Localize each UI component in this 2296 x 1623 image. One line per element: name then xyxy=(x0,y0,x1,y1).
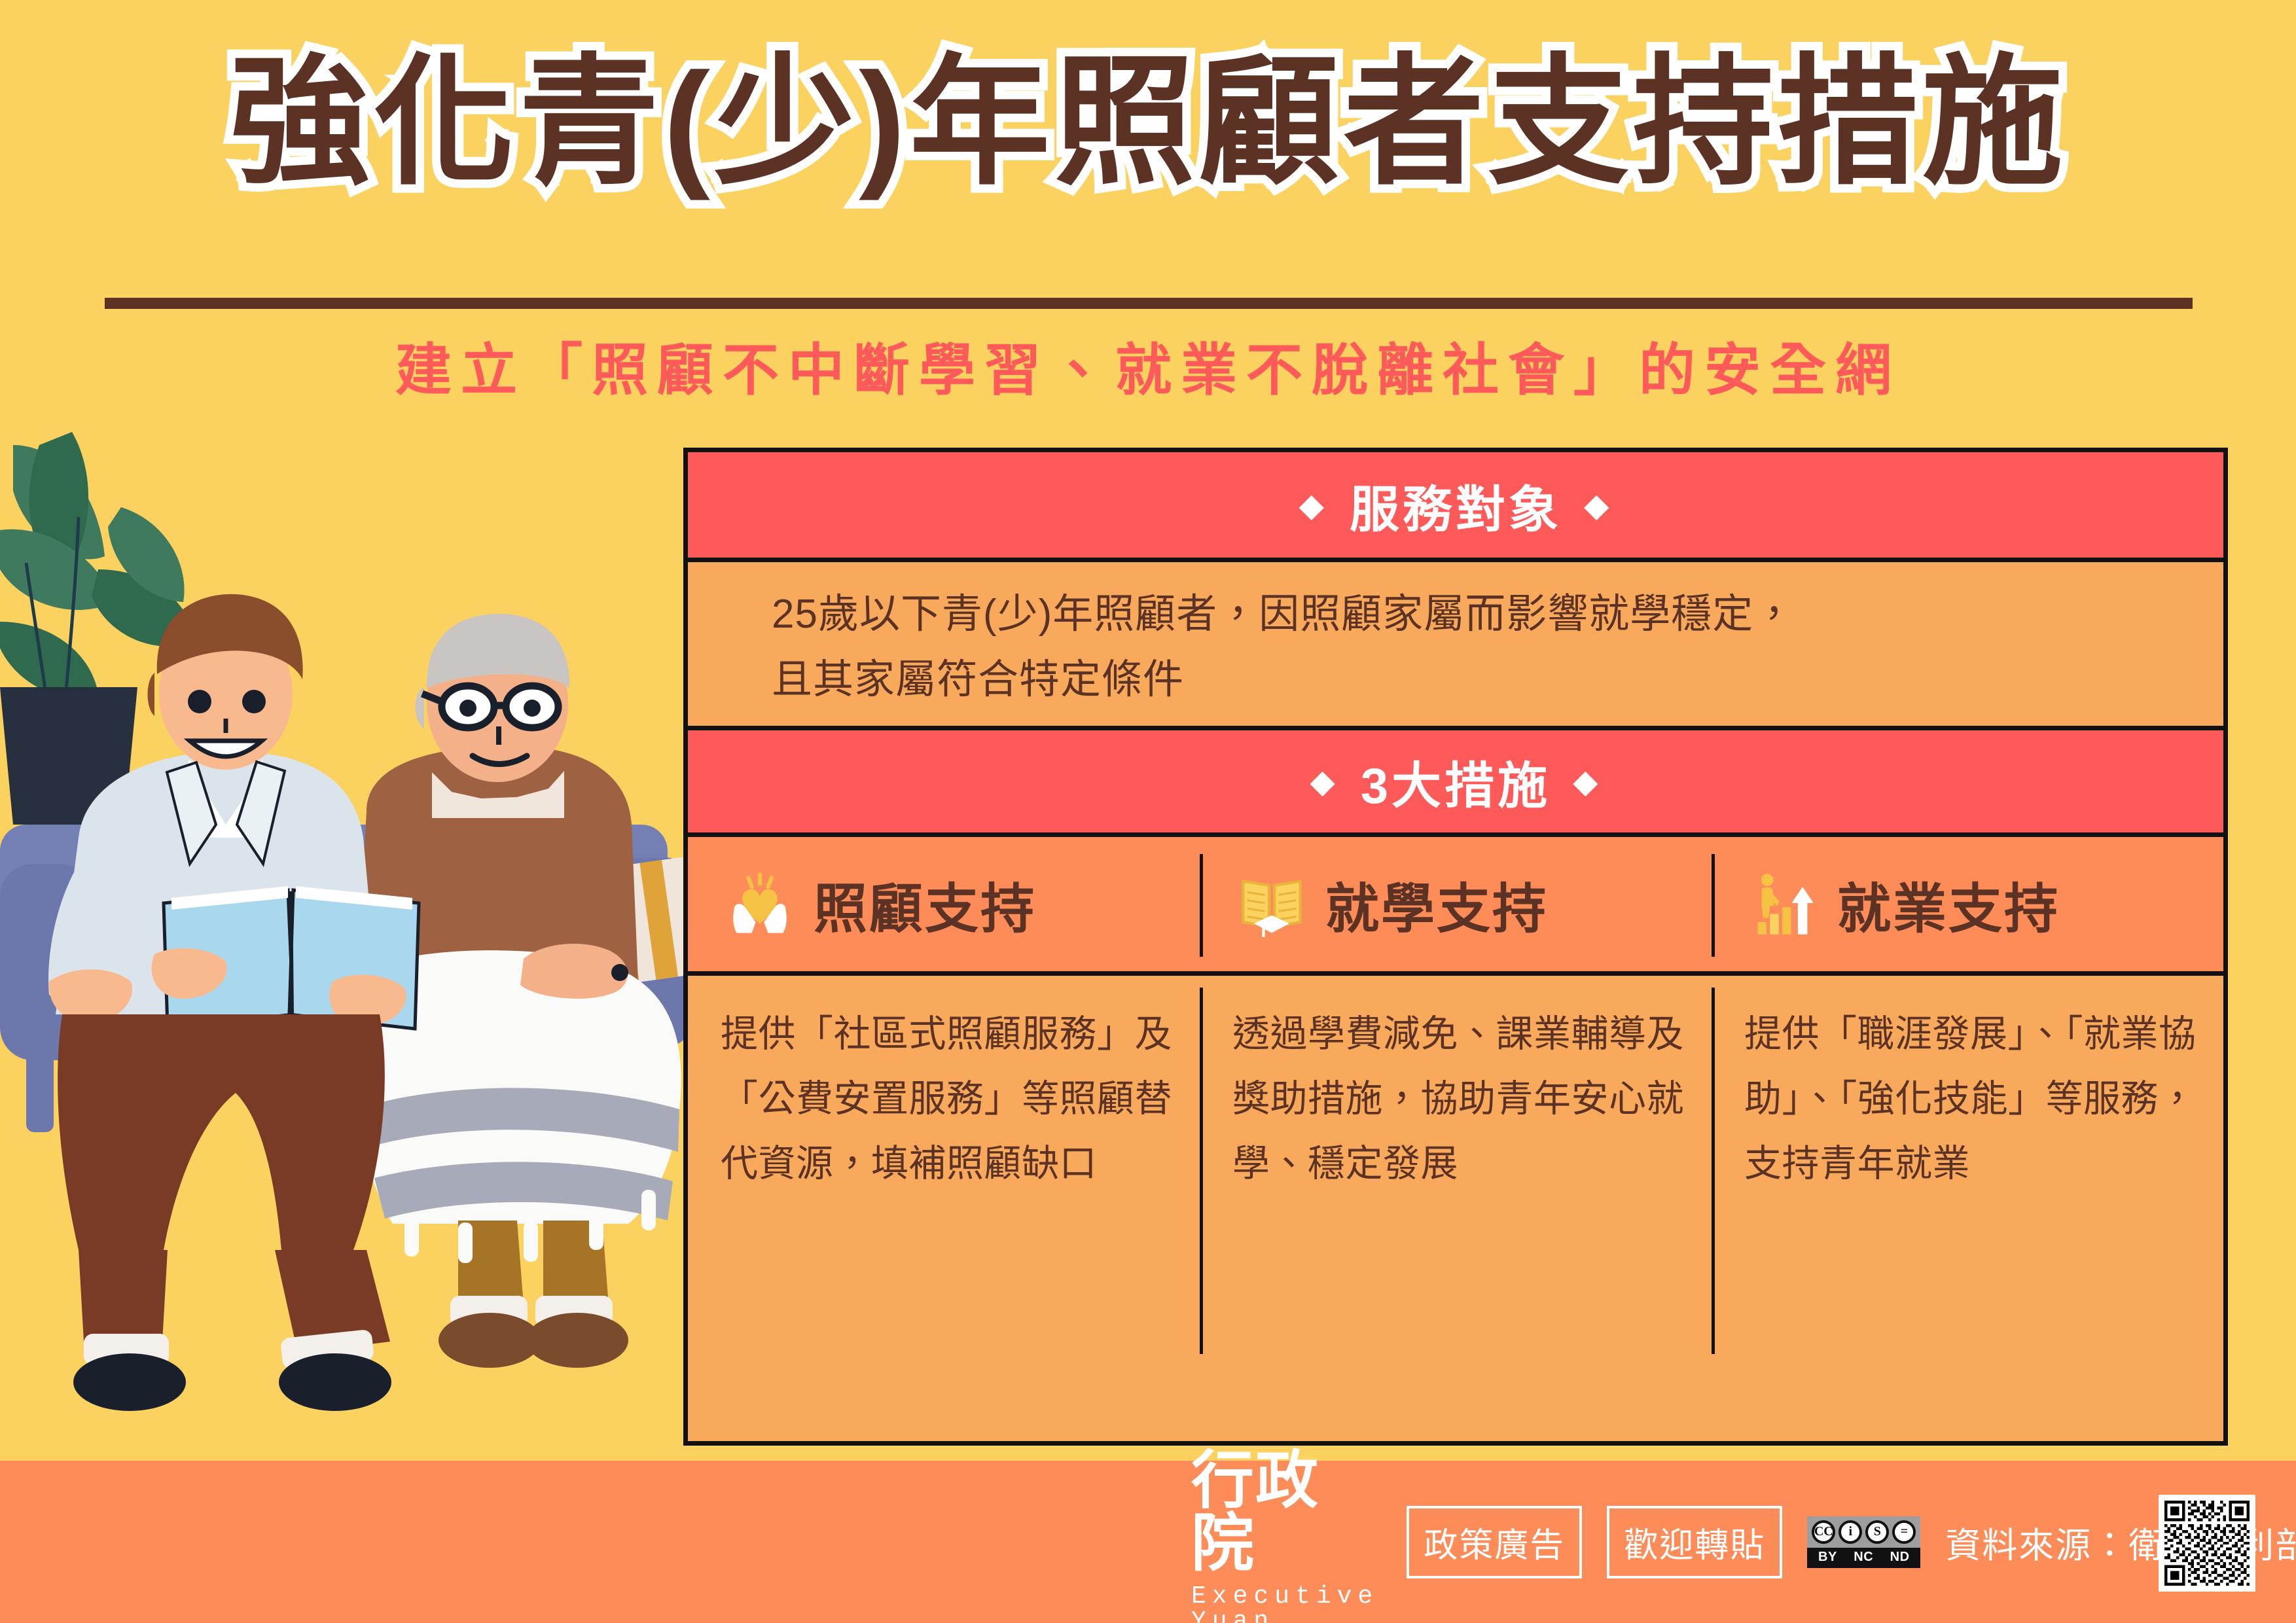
measure-column-label: 照顧支持 xyxy=(814,865,1036,943)
measure-column-label: 就業支持 xyxy=(1837,865,2060,943)
three-measures-band: ◆ 3大措施 ◆ xyxy=(688,726,2223,837)
executive-yuan-logo-chinese: 行政院 xyxy=(1191,1450,1382,1575)
measure-column-header-care: 照顧支持 xyxy=(688,837,1200,971)
footer-bar: 行政院 Executive Yuan 政策廣告 歡迎轉貼 CC i S = BY… xyxy=(0,1461,2296,1623)
heart-in-hands-icon xyxy=(726,870,794,938)
young-caregiver-reading-to-elderly-man-illustration xyxy=(0,406,707,1479)
service-target-heading: 服務對象 xyxy=(1350,469,1562,541)
measure-column-header-employment: 就業支持 xyxy=(1712,837,2223,971)
measure-column-bodies: 提供「社區式照顧服務」及「公費安置服務」等照顧替代資源，填補照顧缺口 透過學費減… xyxy=(688,976,2223,1441)
executive-yuan-logo-english: Executive Yuan xyxy=(1191,1584,1382,1623)
service-target-line-1: 25歲以下青(少)年照顧者，因照顧家屬而影響就學穩定， xyxy=(772,582,2140,647)
measure-column-body-education: 透過學費減免、課業輔導及獎助措施，協助青年安心就學、穩定發展 xyxy=(1200,976,1712,1441)
executive-yuan-logo: 行政院 Executive Yuan xyxy=(1191,1450,1382,1623)
cc-nd-icon: = xyxy=(1892,1520,1916,1544)
page-title: 強化青(少)年照顧者支持措施 xyxy=(229,39,2066,205)
diamond-left-icon: ◆ xyxy=(1299,489,1327,522)
service-target-body: 25歲以下青(少)年照顧者，因照顧家屬而影響就學穩定， 且其家屬符合特定條件 xyxy=(688,562,2223,726)
cc-nd-label: ND xyxy=(1890,1550,1910,1565)
measures-panel: ◆ 服務對象 ◆ 25歲以下青(少)年照顧者，因照顧家屬而影響就學穩定， 且其家… xyxy=(683,448,2228,1446)
measure-column-header-education: 就學支持 xyxy=(1200,837,1712,971)
cc-nc-icon: S xyxy=(1865,1520,1889,1544)
title-block: 強化青(少)年照顧者支持措施 xyxy=(0,39,2296,205)
diamond-right-icon: ◆ xyxy=(1584,489,1612,522)
cc-nc-label: NC xyxy=(1854,1550,1873,1565)
cc-by-icon: i xyxy=(1839,1520,1862,1544)
three-measures-heading: 3大措施 xyxy=(1361,745,1551,817)
welcome-repost-badge: 歡迎轉貼 xyxy=(1607,1506,1782,1578)
measure-column-headers: 照顧支持 就學支持 xyxy=(688,837,2223,976)
cc-by-label: BY xyxy=(1818,1550,1837,1565)
diamond-left-icon: ◆ xyxy=(1310,765,1338,798)
measure-column-body-employment: 提供「職涯發展」、「就業協助」、「強化技能」等服務，支持青年就業 xyxy=(1712,976,2223,1441)
measure-column-body-care: 提供「社區式照顧服務」及「公費安置服務」等照顧替代資源，填補照顧缺口 xyxy=(688,976,1200,1441)
open-book-graduation-icon xyxy=(1238,870,1306,938)
policy-ad-badge: 政策廣告 xyxy=(1407,1506,1582,1578)
service-target-line-2: 且其家屬符合特定條件 xyxy=(772,647,2140,713)
career-growth-icon xyxy=(1749,870,1818,938)
diamond-right-icon: ◆ xyxy=(1573,765,1601,798)
qr-code-icon[interactable] xyxy=(2159,1495,2255,1592)
page-subtitle: 建立「照顧不中斷學習、就業不脫離社會」的安全網 xyxy=(0,324,2296,406)
cc-by-nc-nd-badge: CC i S = BY NC ND xyxy=(1807,1516,1920,1568)
cc-icon: CC xyxy=(1812,1520,1835,1544)
measure-column-label: 就學支持 xyxy=(1325,865,1548,943)
title-divider-rule xyxy=(105,298,2193,309)
service-target-band: ◆ 服務對象 ◆ xyxy=(688,452,2223,562)
